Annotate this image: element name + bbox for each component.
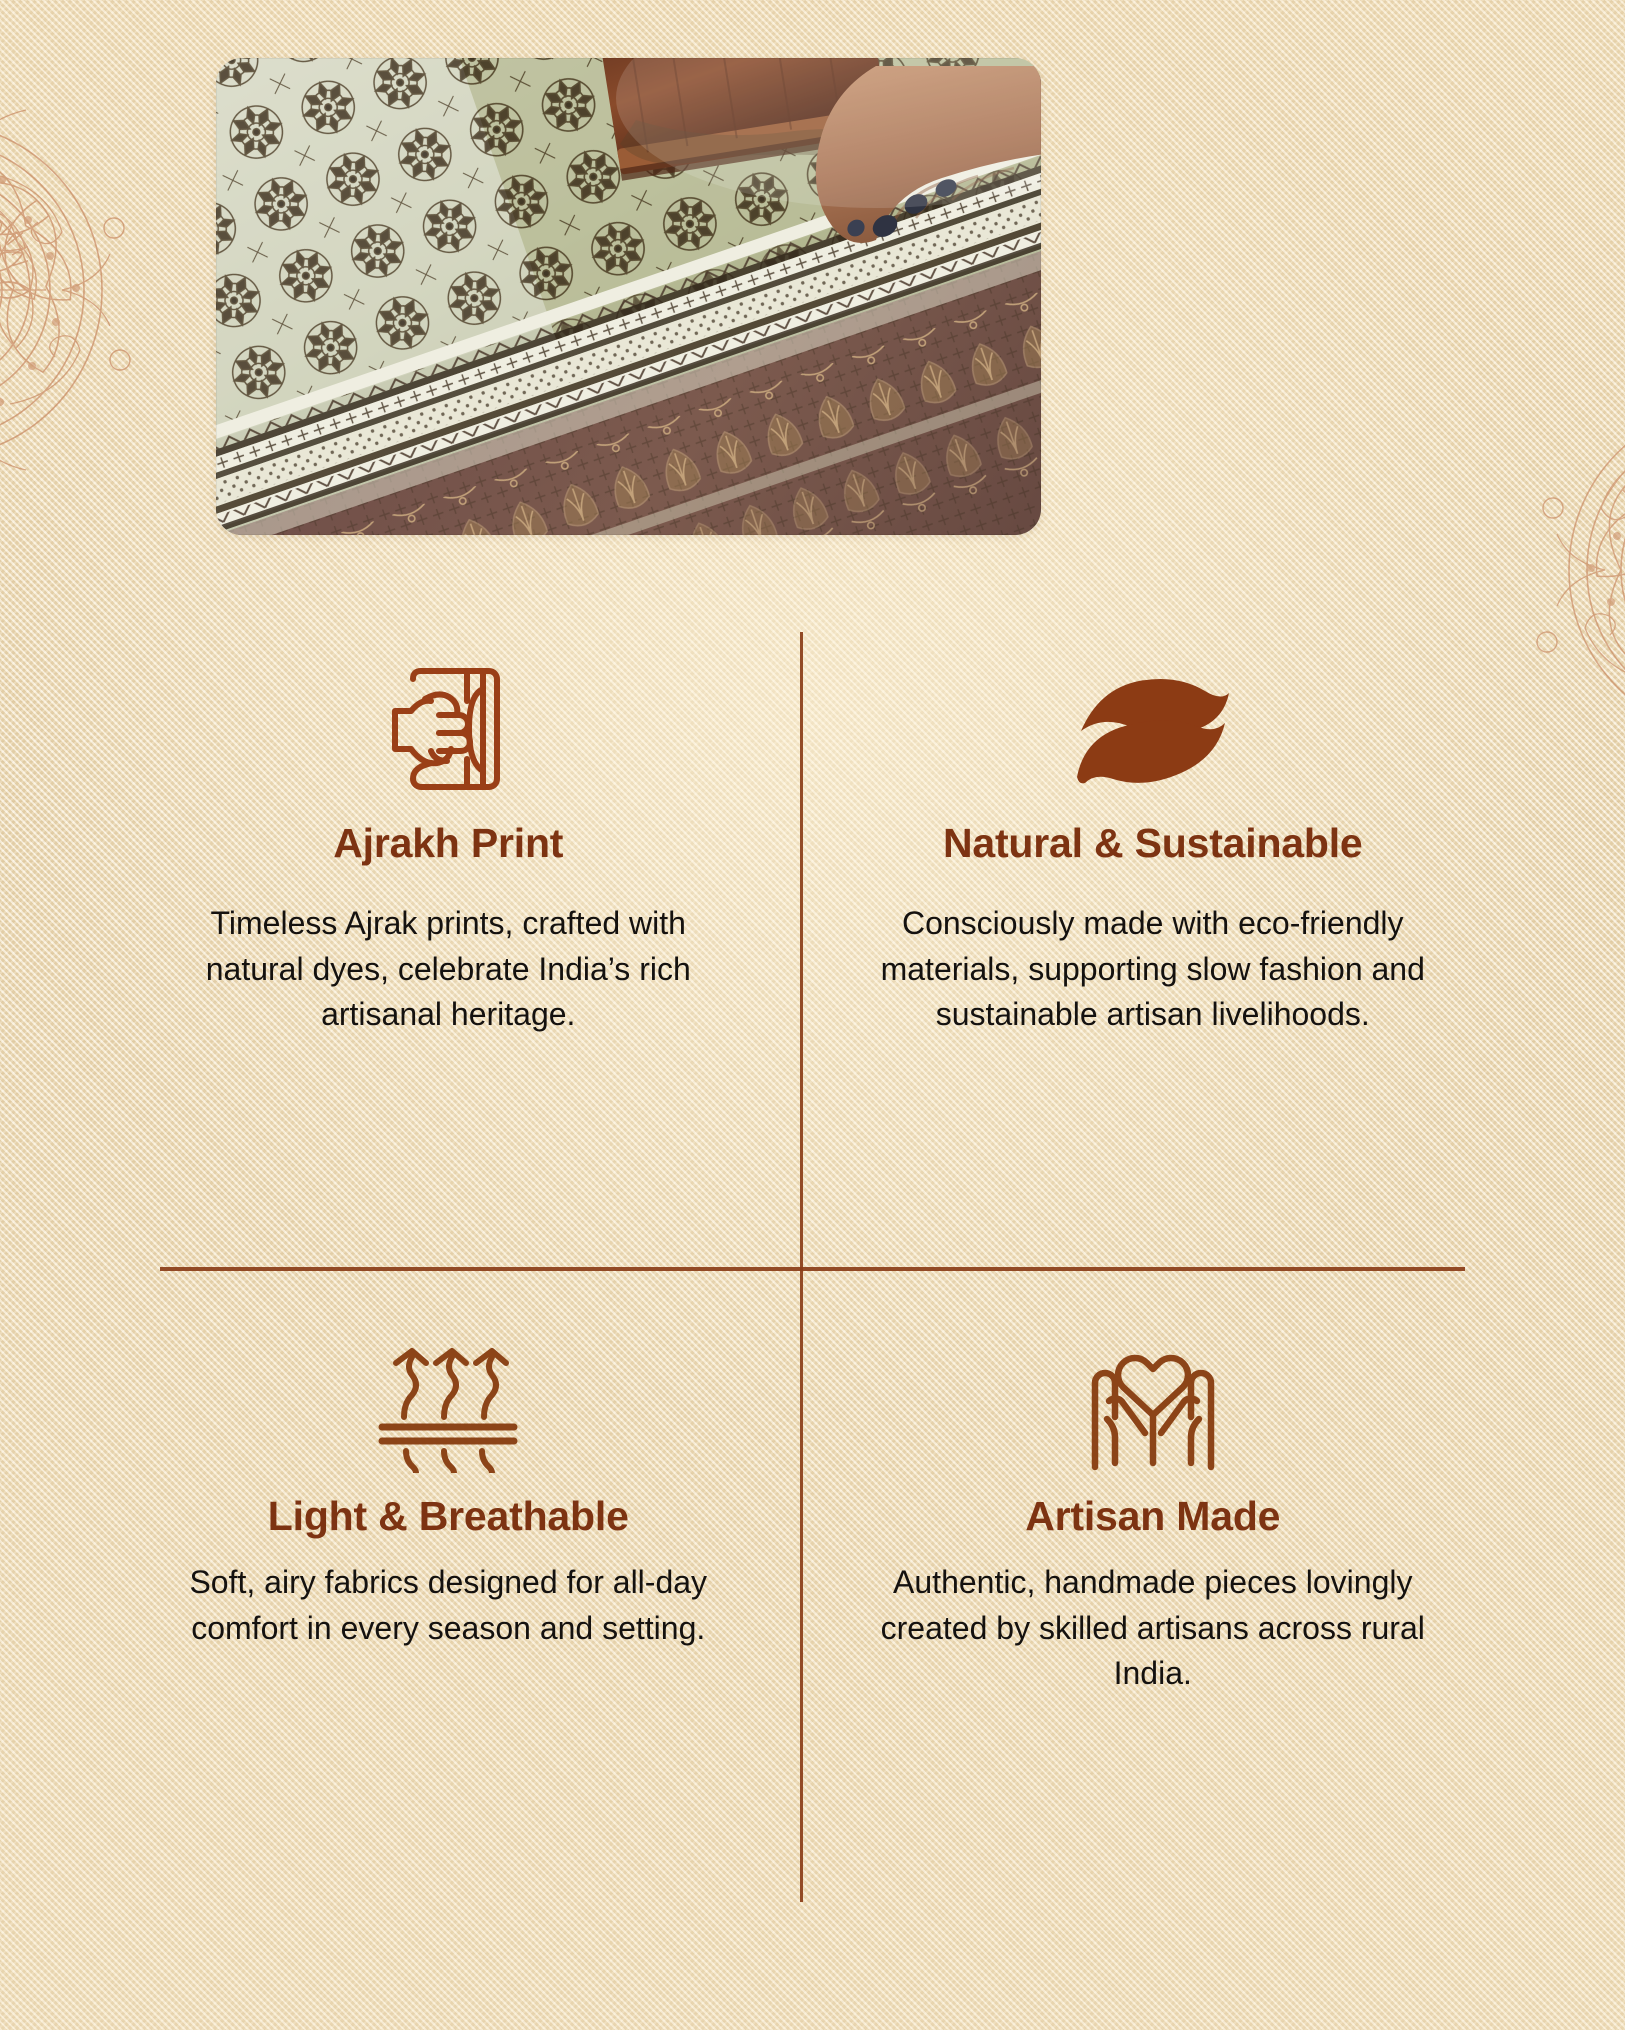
feature-description: Consciously made with eco-friendly mater…	[867, 901, 1440, 1037]
feature-card-ajrakh-print: Ajrakh Print Timeless Ajrak prints, craf…	[128, 632, 801, 1267]
feature-title: Light & Breathable	[268, 1493, 629, 1540]
feature-card-light-breathable: Light & Breathable Soft, airy fabrics de…	[128, 1267, 801, 1902]
horizontal-divider	[160, 1267, 1465, 1271]
leaf-icon	[1073, 654, 1233, 804]
hero-image-container	[216, 58, 1041, 535]
feature-card-artisan-made: Artisan Made Authentic, handmade pieces …	[801, 1267, 1474, 1902]
breathable-airflow-icon	[378, 1333, 518, 1483]
feature-description: Timeless Ajrak prints, crafted with natu…	[162, 901, 735, 1037]
feature-card-natural-sustainable: Natural & Sustainable Consciously made w…	[801, 632, 1474, 1267]
block-printing-photo	[216, 58, 1041, 535]
feature-description: Soft, airy fabrics designed for all-day …	[162, 1560, 735, 1651]
feature-grid: Ajrakh Print Timeless Ajrak prints, craf…	[128, 632, 1473, 1902]
hands-holding-heart-icon	[1085, 1333, 1221, 1483]
feature-title: Artisan Made	[1025, 1493, 1280, 1540]
feature-description: Authentic, handmade pieces lovingly crea…	[867, 1560, 1440, 1696]
feature-title: Ajrakh Print	[333, 820, 563, 867]
hand-block-stamp-icon	[383, 654, 513, 804]
feature-title: Natural & Sustainable	[943, 820, 1363, 867]
